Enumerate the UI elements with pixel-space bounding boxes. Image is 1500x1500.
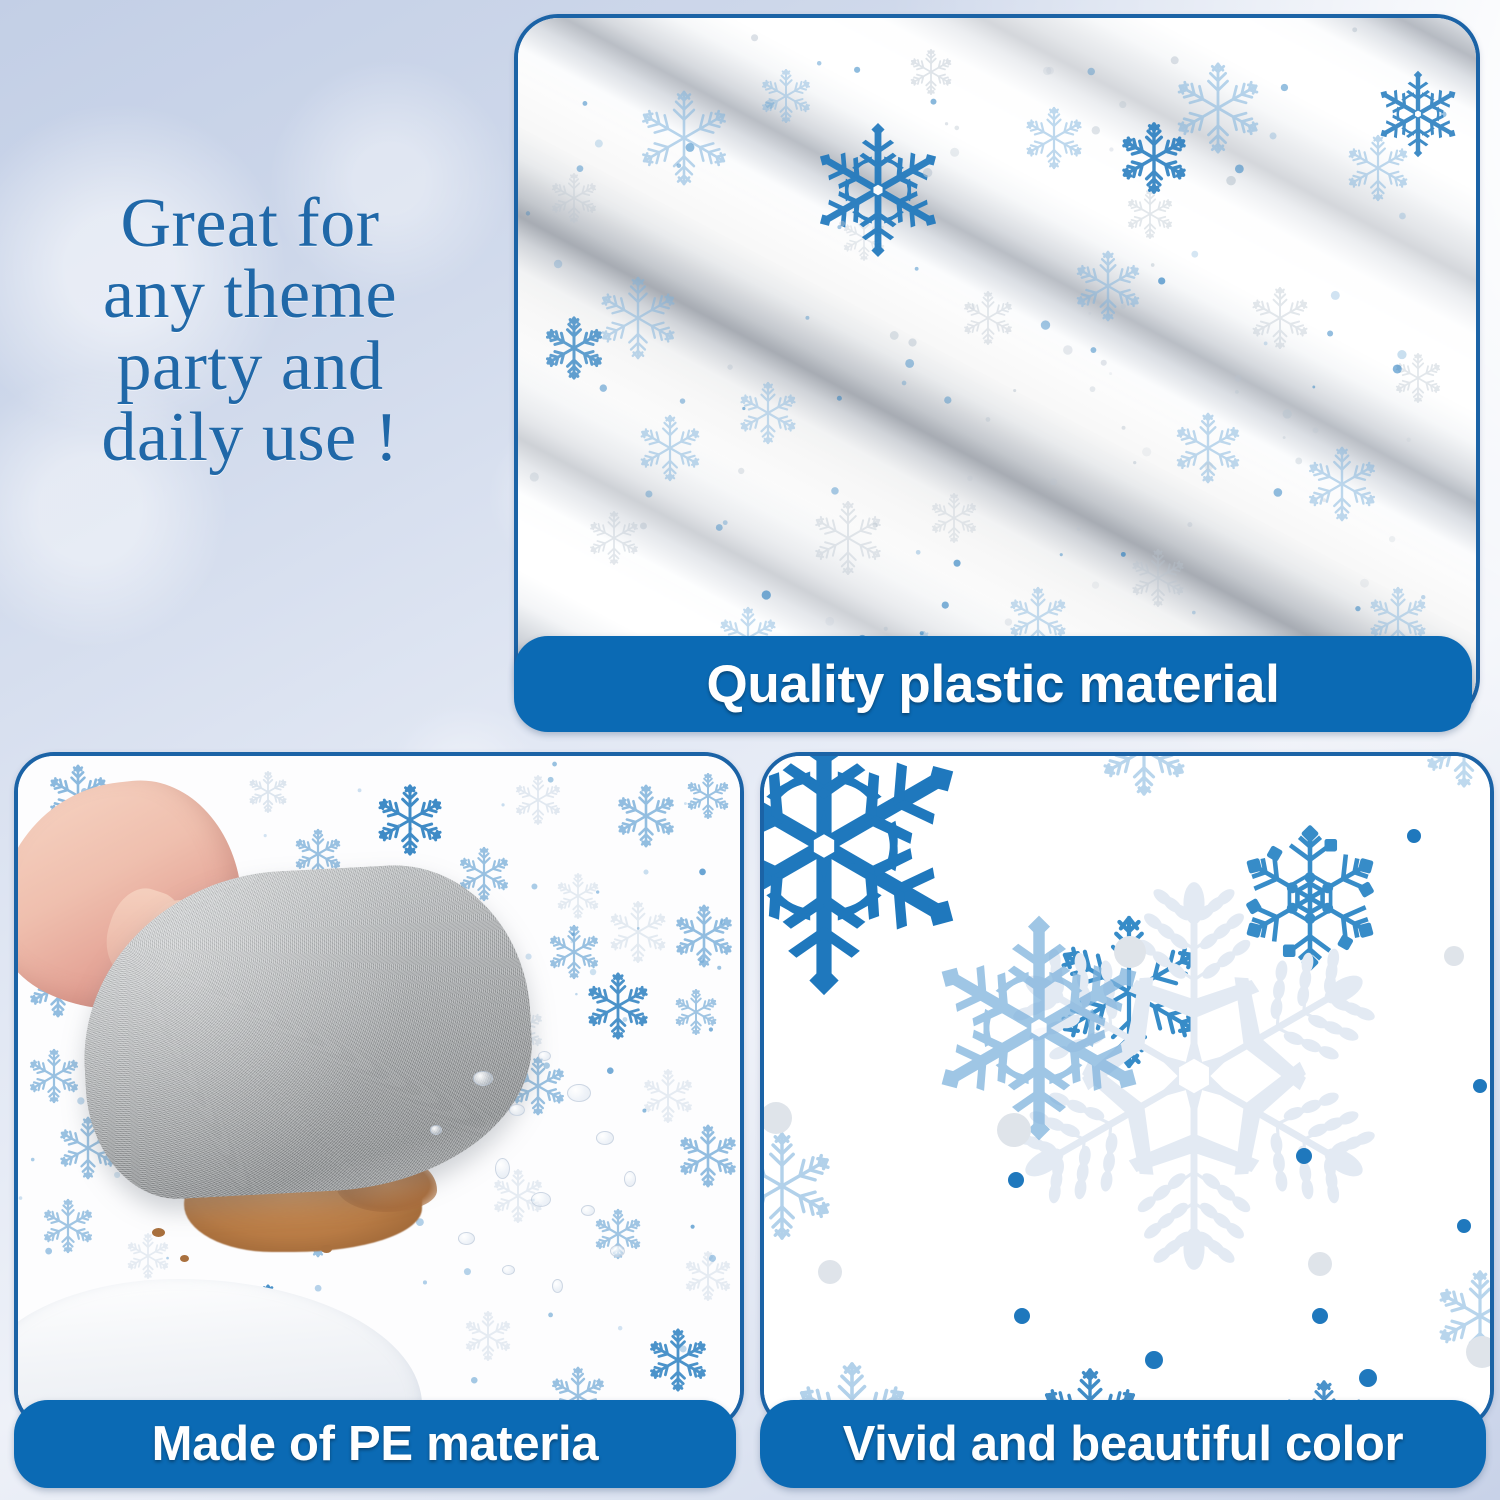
headline-line-2: any theme bbox=[40, 259, 460, 330]
snowflake-print-layer bbox=[764, 756, 1490, 1426]
water-bead-icon bbox=[581, 1205, 595, 1216]
caption-quality-plastic-material: Quality plastic material bbox=[514, 636, 1472, 732]
water-bead-icon bbox=[531, 1192, 551, 1207]
page-title: Great for any theme party and daily use … bbox=[40, 188, 460, 474]
water-bead-icon bbox=[552, 1279, 563, 1293]
water-bead-icon bbox=[458, 1232, 475, 1245]
panel-made-of-pe-material bbox=[14, 752, 744, 1430]
water-bead-icon bbox=[430, 1125, 442, 1135]
product-infographic: Great for any theme party and daily use … bbox=[0, 0, 1500, 1500]
water-bead-icon bbox=[495, 1158, 510, 1179]
headline-line-4: daily use ! bbox=[40, 402, 460, 473]
caption-vivid-and-beautiful-color: Vivid and beautiful color bbox=[760, 1400, 1486, 1488]
snowflake-print-layer bbox=[518, 18, 1476, 718]
water-bead-icon bbox=[473, 1071, 493, 1086]
spill-droplet bbox=[152, 1228, 165, 1237]
water-bead-icon bbox=[538, 1051, 551, 1061]
headline-line-1: Great for bbox=[40, 188, 460, 259]
headline-line-3: party and bbox=[40, 331, 460, 402]
water-bead-icon bbox=[596, 1131, 614, 1145]
panel-vivid-and-beautiful-color bbox=[760, 752, 1494, 1430]
water-bead-icon bbox=[567, 1084, 591, 1102]
caption-made-of-pe-material: Made of PE materia bbox=[14, 1400, 736, 1488]
panel-quality-plastic-material bbox=[514, 14, 1480, 722]
water-bead-icon bbox=[502, 1265, 515, 1275]
